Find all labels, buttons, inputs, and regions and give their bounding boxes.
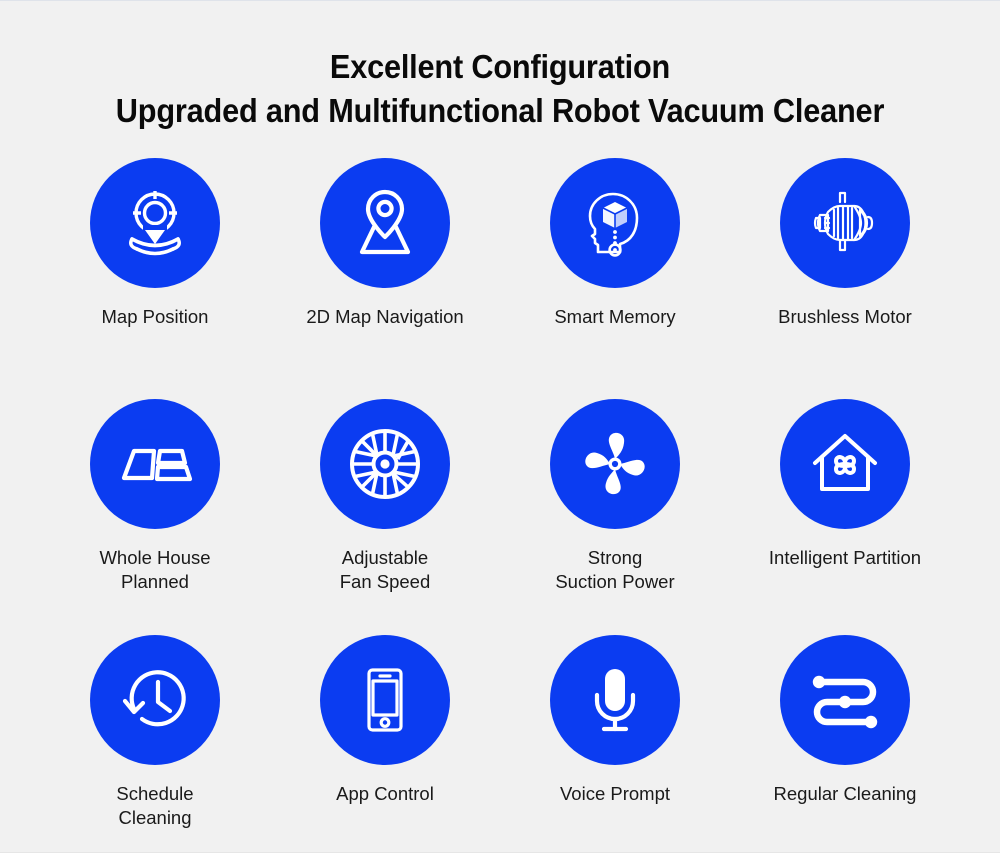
map-pin-navigation-icon xyxy=(342,180,428,266)
feature-item-schedule-cleaning[interactable]: Schedule Cleaning xyxy=(40,635,270,835)
icon-badge xyxy=(90,635,220,765)
feature-label: Schedule Cleaning xyxy=(116,782,193,830)
feature-label: Brushless Motor xyxy=(778,305,912,329)
feature-label: 2D Map Navigation xyxy=(306,305,463,329)
feature-label: Map Position xyxy=(102,305,209,329)
icon-badge xyxy=(550,158,680,288)
feature-item-2d-map-navigation[interactable]: 2D Map Navigation xyxy=(270,158,500,373)
feature-item-map-position[interactable]: Map Position xyxy=(40,158,270,373)
icon-badge xyxy=(780,158,910,288)
spoked-wheel-fan-icon xyxy=(340,419,430,509)
feature-grid-row-1: Map Position 2D Map Navigation xyxy=(40,132,960,373)
feature-item-intelligent-partition[interactable]: Intelligent Partition xyxy=(730,399,960,609)
feature-item-app-control[interactable]: App Control xyxy=(270,635,500,835)
page-title: Excellent Configuration Upgraded and Mul… xyxy=(0,1,1000,132)
feature-label: Voice Prompt xyxy=(560,782,670,806)
feature-item-brushless-motor[interactable]: Brushless Motor xyxy=(730,158,960,373)
feature-grid-row-3: Schedule Cleaning App Control xyxy=(40,609,960,835)
memory-cube xyxy=(603,202,627,228)
title-line-secondary: Upgraded and Multifunctional Robot Vacuu… xyxy=(35,89,965,133)
feature-item-smart-memory[interactable]: Smart Memory xyxy=(500,158,730,373)
memory-dots xyxy=(613,230,617,245)
feature-label: Intelligent Partition xyxy=(769,546,921,570)
feature-item-regular-cleaning[interactable]: Regular Cleaning xyxy=(730,635,960,835)
icon-badge xyxy=(320,158,450,288)
floor-plan-rooms-icon xyxy=(112,421,198,507)
feature-item-whole-house-planned[interactable]: Whole House Planned xyxy=(40,399,270,609)
serpentine-path-icon xyxy=(801,657,889,743)
feature-item-voice-prompt[interactable]: Voice Prompt xyxy=(500,635,730,835)
icon-badge xyxy=(780,635,910,765)
four-blade-fan-icon xyxy=(572,421,658,507)
icon-badge xyxy=(90,399,220,529)
feature-label: Whole House Planned xyxy=(99,546,210,594)
feature-item-strong-suction-power[interactable]: Strong Suction Power xyxy=(500,399,730,609)
icon-badge xyxy=(90,158,220,288)
feature-label: App Control xyxy=(336,782,434,806)
icon-badge xyxy=(550,399,680,529)
route-start-dot xyxy=(813,676,825,688)
icon-badge xyxy=(780,399,910,529)
head-memory-cube-icon xyxy=(572,180,658,266)
brushless-motor-icon xyxy=(800,180,890,266)
icon-badge xyxy=(550,635,680,765)
clock-rewind-icon xyxy=(112,657,198,743)
microphone-icon xyxy=(572,657,658,743)
smartphone-icon xyxy=(342,657,428,743)
icon-badge xyxy=(320,399,450,529)
feature-label: Strong Suction Power xyxy=(555,546,674,594)
title-line-primary: Excellent Configuration xyxy=(35,45,965,89)
route-end-dot xyxy=(865,716,877,728)
map-position-icon xyxy=(112,180,198,266)
feature-label: Regular Cleaning xyxy=(774,782,917,806)
icon-badge xyxy=(320,635,450,765)
feature-grid-row-2: Whole House Planned xyxy=(40,373,960,609)
feature-label: Smart Memory xyxy=(554,305,675,329)
feature-label: Adjustable Fan Speed xyxy=(340,546,431,594)
feature-highlights-page: Excellent Configuration Upgraded and Mul… xyxy=(0,0,1000,853)
feature-item-adjustable-fan-speed[interactable]: Adjustable Fan Speed xyxy=(270,399,500,609)
route-mid-dot xyxy=(839,696,851,708)
house-clover-icon xyxy=(802,421,888,507)
